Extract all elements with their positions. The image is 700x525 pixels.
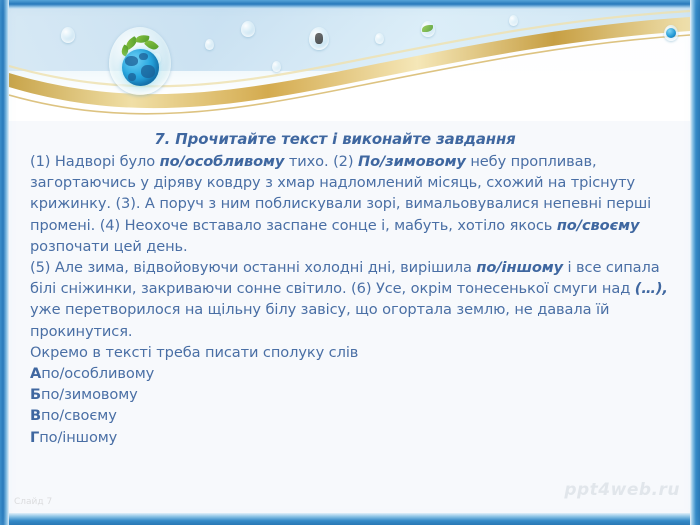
frame-border-bottom — [0, 513, 700, 525]
insect-silhouette — [315, 33, 323, 44]
earth-globe-icon — [122, 49, 159, 86]
watermark-left: Слайд 7 — [14, 497, 52, 507]
water-droplet-with-insect-icon — [309, 27, 329, 50]
emphasised-phrase: по/іншому — [476, 259, 563, 276]
water-droplet-icon — [272, 61, 281, 72]
mini-globe-icon — [666, 28, 676, 38]
slide: 7. Прочитайте текст і виконайте завдання… — [0, 0, 700, 525]
water-droplet-icon — [241, 21, 255, 37]
text-run: розпочати цей день. — [30, 238, 188, 255]
option-text: по/зимовому — [41, 386, 138, 403]
water-droplet-icon — [205, 39, 214, 50]
text-run: (5) Але зима, відвойовуючи останні холод… — [30, 259, 476, 276]
water-droplet-with-globe-icon — [664, 25, 678, 41]
text-run: уже перетворилося на щільну білу завісу,… — [30, 301, 609, 339]
leaf-icon — [422, 25, 433, 32]
water-droplet-icon — [375, 33, 384, 44]
exercise-text: (1) Надворі було по/особливому тихо. (2)… — [30, 151, 670, 342]
option-text: по/іншому — [39, 429, 117, 446]
option-marker: Г — [30, 429, 39, 446]
globe-in-droplet-graphic — [109, 27, 171, 95]
frame-border-left — [0, 0, 9, 525]
emphasised-phrase: (…), — [635, 280, 668, 297]
header-banner — [9, 9, 690, 121]
option-text: по/особливому — [41, 365, 154, 382]
frame-border-right — [690, 0, 700, 525]
option-text: по/своєму — [41, 407, 117, 424]
slide-content: 7. Прочитайте текст і виконайте завдання… — [30, 128, 670, 448]
water-droplet-with-leaf-icon — [421, 21, 435, 37]
water-droplet-icon — [61, 27, 75, 43]
emphasised-phrase: по/особливому — [160, 153, 285, 170]
text-paragraph: (1) Надворі було по/особливому тихо. (2)… — [30, 151, 670, 257]
answer-options-list: Апо/особливомуБпо/зимовомуВпо/своємуГпо/… — [30, 363, 670, 448]
water-droplet-icon — [509, 15, 518, 26]
option-marker: Б — [30, 386, 41, 403]
page-title: 7. Прочитайте текст і виконайте завдання — [30, 128, 670, 150]
answer-option-б[interactable]: Бпо/зимовому — [30, 384, 670, 405]
watermark-right: ppt4web.ru — [564, 480, 680, 500]
answer-option-г[interactable]: Гпо/іншому — [30, 427, 670, 448]
option-marker: А — [30, 365, 41, 382]
emphasised-phrase: По/зимовому — [358, 153, 466, 170]
instruction-line: Окремо в тексті треба писати сполуку слі… — [30, 342, 670, 363]
text-run: (1) Надворі було — [30, 153, 160, 170]
text-run: тихо. (2) — [284, 153, 358, 170]
answer-option-а[interactable]: Апо/особливому — [30, 363, 670, 384]
answer-option-в[interactable]: Впо/своєму — [30, 405, 670, 426]
option-marker: В — [30, 407, 41, 424]
emphasised-phrase: по/своєму — [557, 217, 640, 234]
frame-border-top — [0, 0, 700, 9]
text-paragraph: (5) Але зима, відвойовуючи останні холод… — [30, 257, 670, 342]
